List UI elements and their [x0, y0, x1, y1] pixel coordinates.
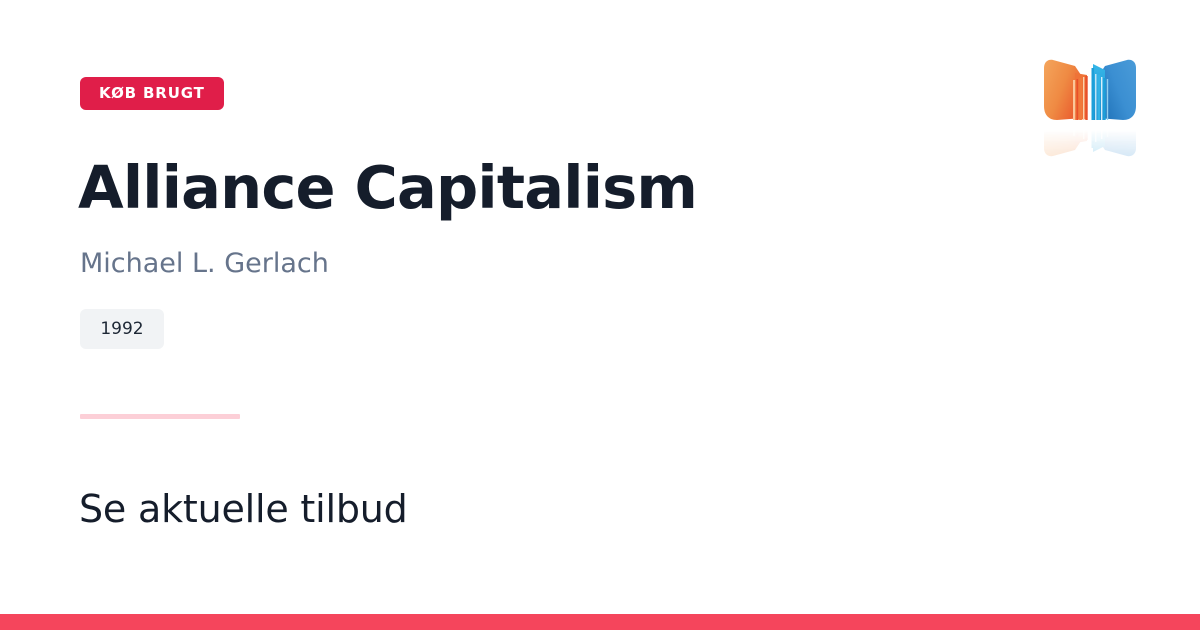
- book-title: Alliance Capitalism: [78, 158, 697, 217]
- publication-year-chip: 1992: [80, 309, 164, 349]
- buy-used-badge[interactable]: KØB BRUGT: [80, 77, 224, 110]
- book-promo-card: KØB BRUGT Alliance Capitalism Michael L.…: [0, 0, 1200, 630]
- view-offers-cta[interactable]: Se aktuelle tilbud: [79, 489, 408, 531]
- book-author: Michael L. Gerlach: [80, 248, 329, 280]
- brand-logo: [1035, 48, 1145, 163]
- logo-reflection: [1035, 128, 1145, 168]
- butterfly-book-barcode-logo: [1035, 48, 1145, 128]
- section-divider: [80, 414, 240, 419]
- bottom-accent-bar: [0, 614, 1200, 630]
